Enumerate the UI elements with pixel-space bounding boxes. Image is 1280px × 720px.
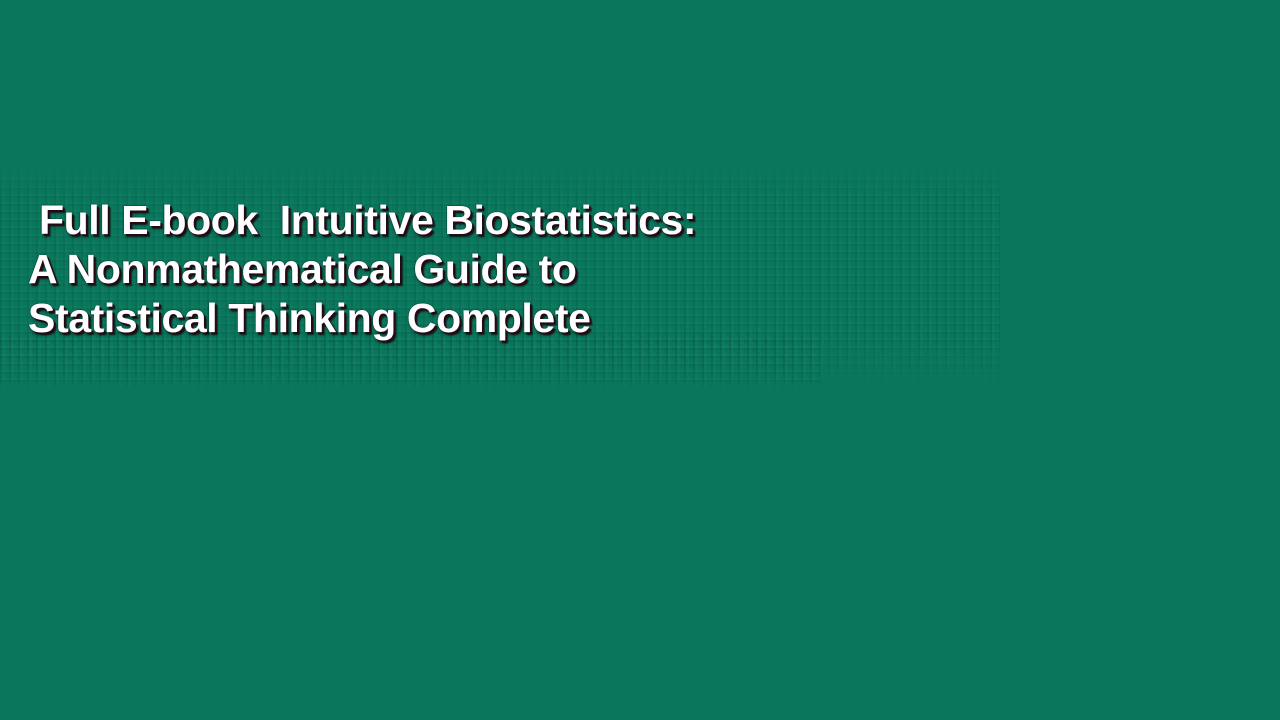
page-title: Full E-book Intuitive Biostatistics: A N… bbox=[28, 196, 1028, 343]
thumbnail-card: Full E-book Intuitive Biostatistics: A N… bbox=[0, 0, 1280, 720]
title-line-3: Statistical Thinking Complete bbox=[28, 294, 1028, 343]
title-line-1: Full E-book Intuitive Biostatistics: bbox=[28, 196, 1028, 245]
title-line-2: A Nonmathematical Guide to bbox=[28, 245, 1028, 294]
